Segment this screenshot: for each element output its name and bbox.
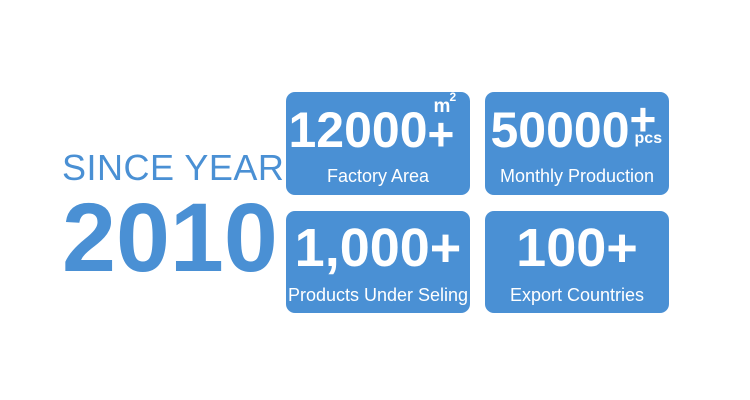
stat-number-monthly-production: 50000 bbox=[490, 105, 629, 155]
stat-number-factory-area: 12000 bbox=[288, 105, 427, 155]
unit-metre-factory-area: m bbox=[434, 97, 451, 116]
stat-card-factory-area[interactable]: 12000 + m 2 Factory Area bbox=[286, 92, 470, 195]
since-year-label: SINCE YEAR bbox=[62, 148, 277, 188]
stat-adornment-monthly-production: + pcs bbox=[630, 105, 664, 155]
headline-block: SINCE YEAR 2010 bbox=[62, 148, 277, 284]
unit-exponent-factory-area: 2 bbox=[450, 92, 457, 103]
stat-value-monthly-production: 50000 + pcs bbox=[490, 103, 663, 155]
stat-value-products-under-selling: 1,000 + bbox=[295, 221, 462, 275]
stat-card-export-countries[interactable]: 100 + Export Countries bbox=[485, 211, 669, 313]
stat-card-monthly-production[interactable]: 50000 + pcs Monthly Production bbox=[485, 92, 669, 195]
plus-sign-products-under-selling: + bbox=[430, 221, 462, 275]
stat-label-monthly-production: Monthly Production bbox=[500, 167, 654, 185]
stats-card-grid: 12000 + m 2 Factory Area 50000 + pcs Mon… bbox=[286, 92, 669, 313]
stat-adornment-factory-area: + m 2 bbox=[428, 105, 468, 155]
unit-pieces-monthly-production: pcs bbox=[635, 131, 663, 147]
stat-number-products-under-selling: 1,000 bbox=[295, 221, 430, 275]
stat-label-products-under-selling: Products Under Seling bbox=[288, 286, 468, 304]
stat-card-products-under-selling[interactable]: 1,000 + Products Under Seling bbox=[286, 211, 470, 313]
plus-sign-factory-area: + bbox=[428, 111, 455, 157]
stat-value-export-countries: 100 + bbox=[516, 221, 638, 275]
stat-label-export-countries: Export Countries bbox=[510, 286, 644, 304]
stat-value-factory-area: 12000 + m 2 bbox=[288, 103, 467, 155]
founding-year: 2010 bbox=[62, 192, 277, 284]
plus-sign-export-countries: + bbox=[606, 221, 638, 275]
stat-label-factory-area: Factory Area bbox=[327, 167, 429, 185]
stats-infographic: SINCE YEAR 2010 12000 + m 2 Factory Area… bbox=[0, 0, 750, 400]
stat-number-export-countries: 100 bbox=[516, 221, 606, 275]
